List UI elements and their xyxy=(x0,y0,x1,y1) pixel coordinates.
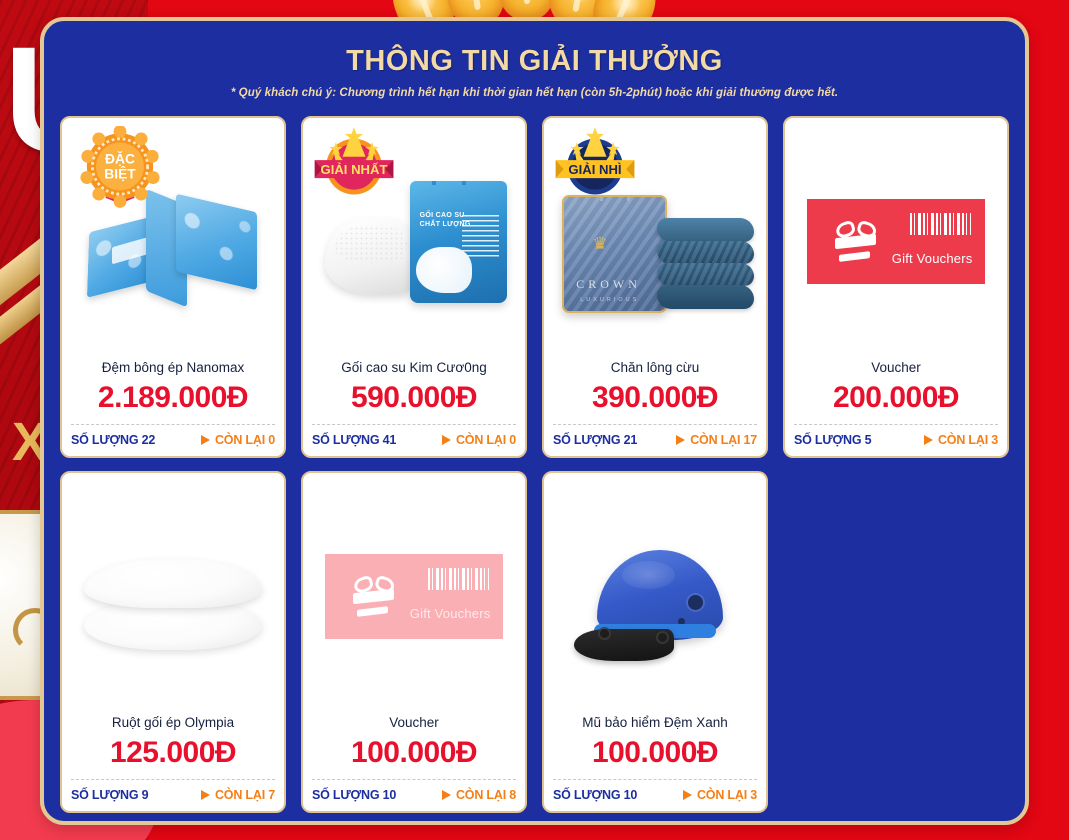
prize-footer: SỐ LƯỢNG 5 CÒN LẠI 3 xyxy=(794,424,998,456)
prize-quantity: SỐ LƯỢNG 41 xyxy=(312,433,396,447)
play-triangle-icon xyxy=(442,435,451,445)
prize-text: Mũ bảo hiểm Đệm Xanh 100.000Đ xyxy=(544,715,766,773)
prize-price: 200.000Đ xyxy=(795,379,997,417)
gift-box-icon xyxy=(348,576,408,617)
play-triangle-icon xyxy=(201,790,210,800)
prize-remaining: CÒN LẠI 3 xyxy=(683,788,757,802)
play-triangle-icon xyxy=(201,435,210,445)
prize-card[interactable]: GIẢI NHÌ ♛ CROWN LUXURIOUS xyxy=(542,116,768,458)
prize-footer: SỐ LƯỢNG 41 CÒN LẠI 0 xyxy=(312,424,516,456)
prize-footer: SỐ LƯỢNG 10 CÒN LẠI 8 xyxy=(312,779,516,811)
prize-name: Ruột gối ép Olympia xyxy=(72,715,274,732)
helmet-image xyxy=(554,479,756,715)
prize-remaining: CÒN LẠI 3 xyxy=(924,433,998,447)
prize-price: 100.000Đ xyxy=(554,734,756,772)
gift-voucher-image: Gift Vouchers xyxy=(807,199,985,284)
blanket-brand-text: CROWN xyxy=(576,277,641,292)
prize-remaining-label: CÒN LẠI 7 xyxy=(215,788,275,802)
gift-box-icon xyxy=(830,221,890,262)
prize-card[interactable]: ĐẶC BIỆT Đệm bông ép Nanomax 2.189.000Đ xyxy=(60,116,286,458)
blanket-brand-subtext: LUXURIOUS xyxy=(580,297,639,303)
prize-text: Ruột gối ép Olympia 125.000Đ xyxy=(62,715,284,773)
play-triangle-icon xyxy=(676,435,685,445)
svg-text:BIỆT: BIỆT xyxy=(104,164,136,181)
prize-footer: SỐ LƯỢNG 22 CÒN LẠI 0 xyxy=(71,424,275,456)
voucher-label: Gift Vouchers xyxy=(410,606,491,621)
prize-text: Voucher 200.000Đ xyxy=(785,360,1007,418)
giai-nhi-badge-icon: GIẢI NHÌ xyxy=(554,124,636,206)
prize-remaining-label: CÒN LẠI 0 xyxy=(456,433,516,447)
prize-remaining: CÒN LẠI 17 xyxy=(676,433,757,447)
pillow-pair-image xyxy=(72,479,274,715)
svg-text:GIẢI NHẤT: GIẢI NHẤT xyxy=(321,162,388,177)
prize-remaining: CÒN LẠI 0 xyxy=(442,433,516,447)
prize-name: Đệm bông ép Nanomax xyxy=(72,360,274,377)
prize-card[interactable]: Mũ bảo hiểm Đệm Xanh 100.000Đ SỐ LƯỢNG 1… xyxy=(542,471,768,813)
prize-card[interactable]: GIẢI NHẤT GỐI CAO SU CHẤT LƯỢNG xyxy=(301,116,527,458)
crown-icon: ♛ xyxy=(592,235,608,252)
prize-remaining: CÒN LẠI 8 xyxy=(442,788,516,802)
play-triangle-icon xyxy=(683,790,692,800)
prize-image: Gift Vouchers xyxy=(785,118,1007,360)
page-title: THÔNG TIN GIẢI THƯỞNG xyxy=(60,35,1009,78)
prize-grid: ĐẶC BIỆT Đệm bông ép Nanomax 2.189.000Đ xyxy=(60,116,1009,813)
prize-price: 390.000Đ xyxy=(554,379,756,417)
prize-name: Chăn lông cừu xyxy=(554,360,756,377)
prize-name: Mũ bảo hiểm Đệm Xanh xyxy=(554,715,756,732)
voucher-label: Gift Vouchers xyxy=(892,251,973,266)
prize-image xyxy=(544,473,766,715)
prize-price: 2.189.000Đ xyxy=(72,379,274,417)
prize-name: Voucher xyxy=(313,715,515,732)
prize-image xyxy=(62,473,284,715)
prize-quantity: SỐ LƯỢNG 10 xyxy=(553,788,637,802)
prize-quantity: SỐ LƯỢNG 10 xyxy=(312,788,396,802)
prize-card[interactable]: Ruột gối ép Olympia 125.000Đ SỐ LƯỢNG 9 … xyxy=(60,471,286,813)
prize-text: Chăn lông cừu 390.000Đ xyxy=(544,360,766,418)
prize-name: Gối cao su Kim Cươ0ng xyxy=(313,360,515,377)
prize-quantity: SỐ LƯỢNG 5 xyxy=(794,433,871,447)
play-triangle-icon xyxy=(924,435,933,445)
prize-remaining-label: CÒN LẠI 3 xyxy=(938,433,998,447)
prize-quantity: SỐ LƯỢNG 21 xyxy=(553,433,637,447)
barcode-icon xyxy=(910,213,970,235)
svg-text:ĐẶC: ĐẶC xyxy=(105,151,135,167)
prize-remaining: CÒN LẠI 7 xyxy=(201,788,275,802)
prize-card[interactable]: Gift Vouchers Voucher 200.000Đ SỐ LƯỢNG … xyxy=(783,116,1009,458)
giai-nhat-badge-icon: GIẢI NHẤT xyxy=(313,124,395,206)
prize-remaining-label: CÒN LẠI 0 xyxy=(215,433,275,447)
prize-card[interactable]: Gift Vouchers Voucher 100.000Đ SỐ LƯỢNG … xyxy=(301,471,527,813)
dac-biet-badge-icon: ĐẶC BIỆT xyxy=(74,126,166,218)
gift-voucher-image: Gift Vouchers xyxy=(325,554,503,639)
prize-remaining-label: CÒN LẠI 8 xyxy=(456,788,516,802)
prize-quantity: SỐ LƯỢNG 22 xyxy=(71,433,155,447)
prize-name: Voucher xyxy=(795,360,997,377)
prize-price: 100.000Đ xyxy=(313,734,515,772)
panel-disclaimer-note: * Quý khách chú ý: Chương trình hết hạn … xyxy=(60,87,1009,99)
prize-text: Gối cao su Kim Cươ0ng 590.000Đ xyxy=(303,360,525,418)
prize-text: Đệm bông ép Nanomax 2.189.000Đ xyxy=(62,360,284,418)
prize-info-panel: THÔNG TIN GIẢI THƯỞNG * Quý khách chú ý:… xyxy=(40,17,1029,825)
prize-image: Gift Vouchers xyxy=(303,473,525,715)
prize-quantity: SỐ LƯỢNG 9 xyxy=(71,788,148,802)
play-triangle-icon xyxy=(442,790,451,800)
prize-price: 125.000Đ xyxy=(72,734,274,772)
helmet-vent-icon xyxy=(688,595,703,610)
prize-remaining-label: CÒN LẠI 17 xyxy=(690,433,757,447)
prize-text: Voucher 100.000Đ xyxy=(303,715,525,773)
barcode-icon xyxy=(428,568,488,590)
prize-footer: SỐ LƯỢNG 9 CÒN LẠI 7 xyxy=(71,779,275,811)
prize-price: 590.000Đ xyxy=(313,379,515,417)
prize-remaining: CÒN LẠI 0 xyxy=(201,433,275,447)
prize-remaining-label: CÒN LẠI 3 xyxy=(697,788,757,802)
svg-text:GIẢI NHÌ: GIẢI NHÌ xyxy=(568,162,621,177)
prize-footer: SỐ LƯỢNG 21 CÒN LẠI 17 xyxy=(553,424,757,456)
prize-footer: SỐ LƯỢNG 10 CÒN LẠI 3 xyxy=(553,779,757,811)
